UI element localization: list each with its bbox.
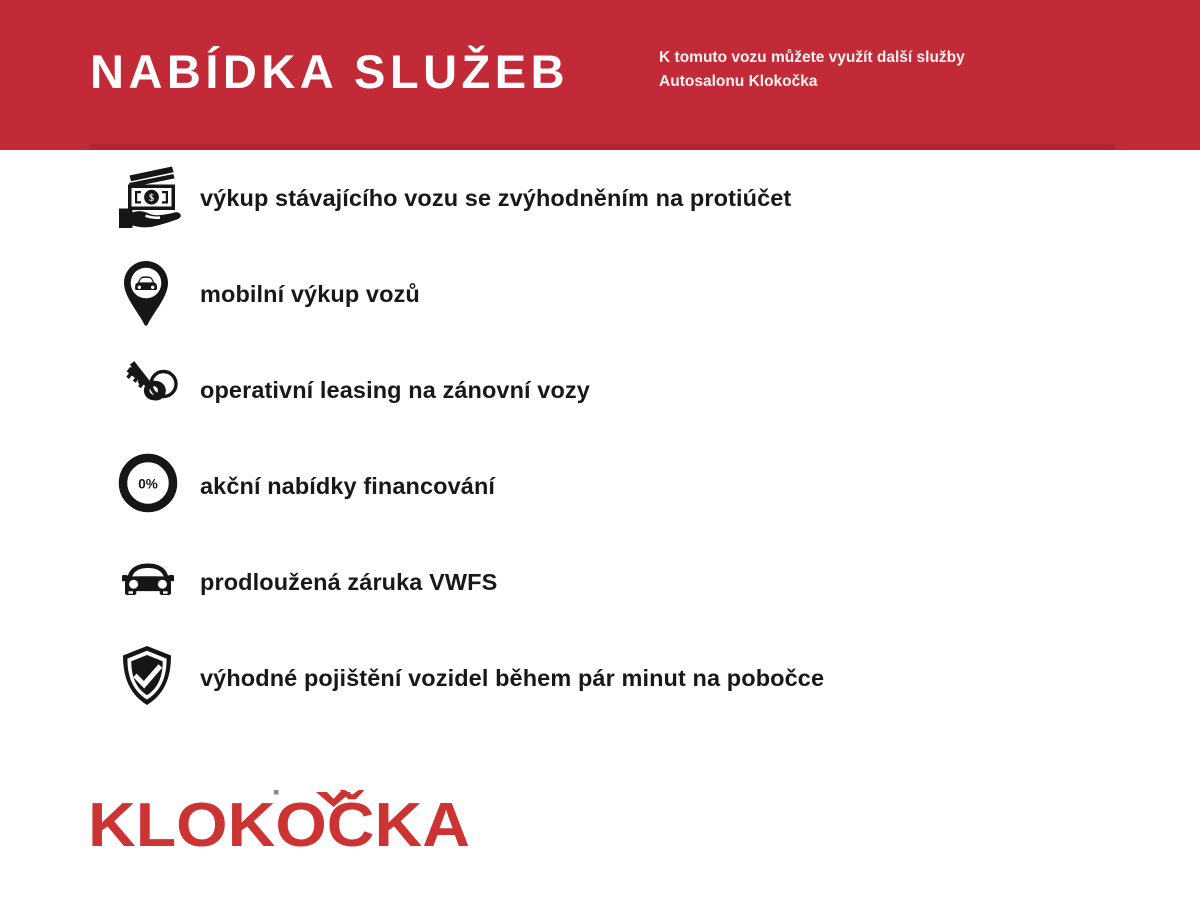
list-item-label: prodloužená záruka VWFS bbox=[200, 569, 497, 596]
list-item-label: akční nabídky financování bbox=[200, 473, 495, 500]
list-item-label: výkup stávajícího vozu se zvýhodněním na… bbox=[200, 185, 791, 212]
page-header: NABÍDKA SLUŽEB K tomuto vozu můžete využ… bbox=[0, 0, 1200, 150]
header-content: NABÍDKA SLUŽEB K tomuto vozu můžete využ… bbox=[90, 0, 1200, 150]
car-front-icon bbox=[116, 544, 192, 620]
klokocka-logo: KLOKOČKA bbox=[88, 784, 488, 856]
list-item: prodloužená záruka VWFS bbox=[0, 534, 1200, 630]
zero-percent-label: 0% bbox=[138, 477, 158, 492]
list-item-label: mobilní výkup vozů bbox=[200, 281, 420, 308]
header-subtitle-line-2: Autosalonu Klokočka bbox=[659, 70, 965, 94]
list-item: výhodné pojištění vozidel během pár minu… bbox=[0, 630, 1200, 726]
list-item: $ výkup stávajícího vozu se zvýhodněním … bbox=[0, 150, 1200, 246]
logo-text: KLOKOČKA bbox=[88, 791, 470, 856]
header-subtitle: K tomuto vozu můžete využít další služby… bbox=[659, 46, 965, 94]
list-item: operativní leasing na zánovní vozy bbox=[0, 342, 1200, 438]
list-item-label: výhodné pojištění vozidel během pár minu… bbox=[200, 665, 824, 692]
keys-icon bbox=[116, 352, 192, 428]
svg-text:$: $ bbox=[149, 193, 154, 204]
hand-money-icon: $ bbox=[116, 160, 192, 236]
zero-percent-icon: 0% bbox=[116, 448, 192, 524]
page-title: NABÍDKA SLUŽEB bbox=[90, 48, 569, 95]
list-item: mobilní výkup vozů bbox=[0, 246, 1200, 342]
list-item: 0% akční nabídky financování bbox=[0, 438, 1200, 534]
list-item-label: operativní leasing na zánovní vozy bbox=[200, 377, 590, 404]
header-subtitle-line-1: K tomuto vozu můžete využít další služby bbox=[659, 46, 965, 70]
shield-check-icon bbox=[116, 640, 192, 716]
services-list: $ výkup stávajícího vozu se zvýhodněním … bbox=[0, 150, 1200, 726]
map-pin-car-icon bbox=[116, 256, 192, 332]
